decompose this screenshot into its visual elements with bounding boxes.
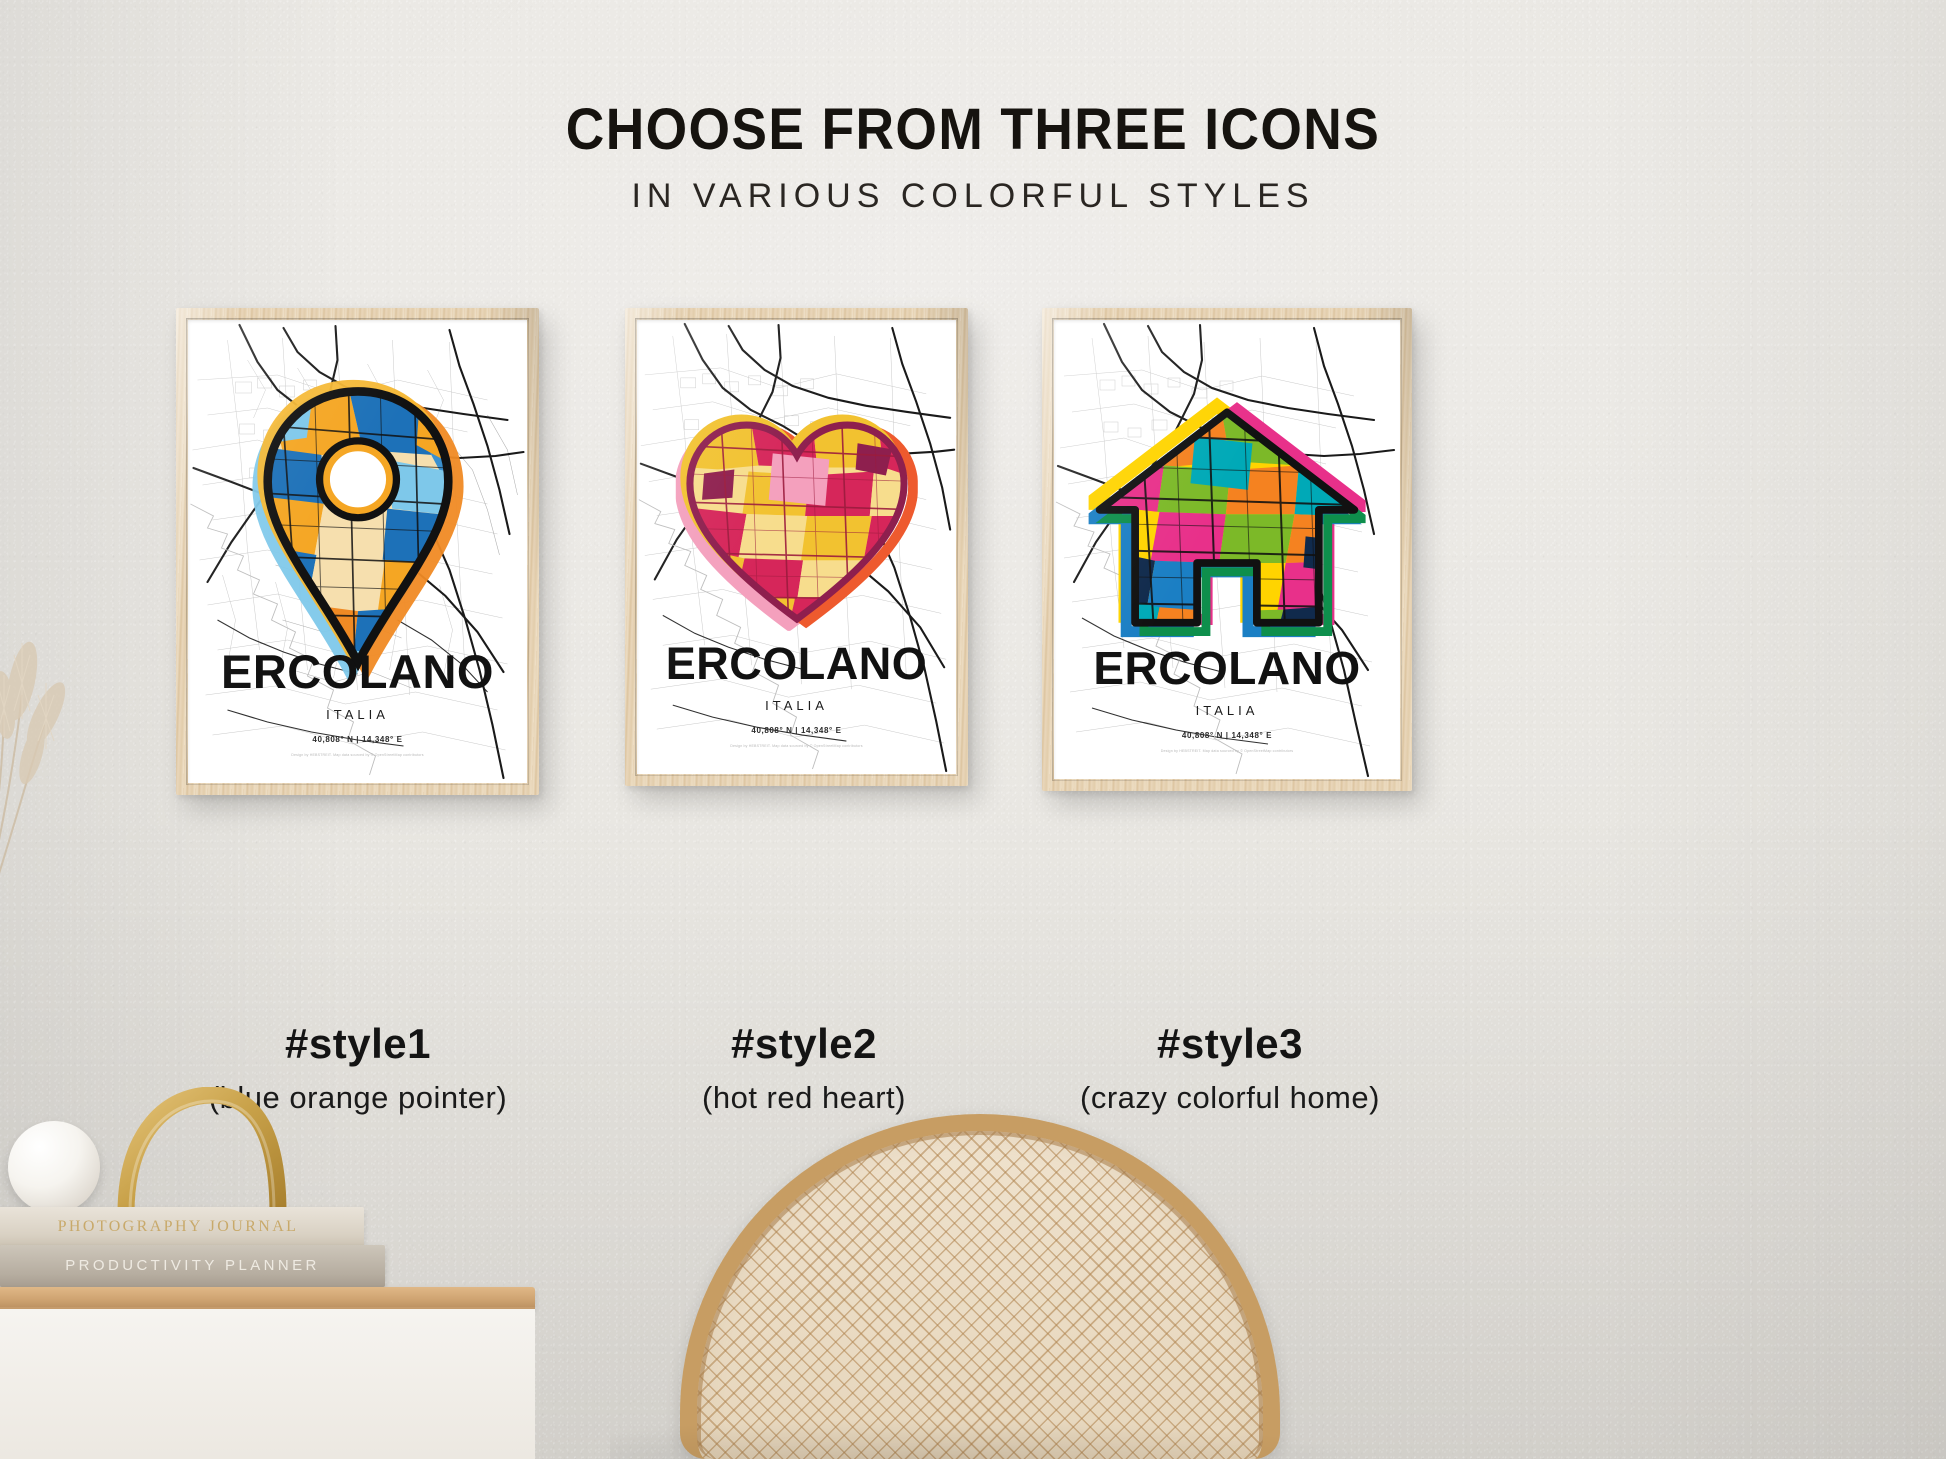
poster-country-name: ITALIA (188, 707, 527, 722)
poster-frame-style1[interactable]: ERCOLANO ITALIA 40,808° N | 14,348° E De… (176, 308, 539, 795)
poster-city-name: ERCOLANO (188, 648, 527, 695)
poster-attribution: Design by HEBSTREIT. Map data sourced by… (188, 753, 527, 757)
poster-caption-block: ERCOLANO ITALIA 40,808° N | 14,348° E De… (188, 648, 527, 757)
poster-canvas: ERCOLANO ITALIA 40,808° N | 14,348° E De… (188, 320, 527, 783)
poster-attribution: Design by HEBSTREIT. Map data sourced by… (637, 744, 956, 748)
book-photography-journal: PHOTOGRAPHY JOURNAL (0, 1207, 364, 1247)
style-caption-description: (crazy colorful home) (1020, 1080, 1440, 1116)
style-caption-2: #style2 (hot red heart) (594, 1020, 1014, 1116)
poster-attribution: Design by HEBSTREIT. Map data sourced by… (1054, 749, 1400, 753)
rattan-chair (680, 1114, 1280, 1459)
book-productivity-planner: PRODUCTIVITY PLANNER (0, 1245, 385, 1287)
style-caption-title: #style2 (594, 1020, 1014, 1068)
sideboard-top-surface (0, 1287, 535, 1309)
style-caption-title: #style1 (148, 1020, 568, 1068)
poster-city-name: ERCOLANO (1054, 645, 1400, 691)
wood-frame: ERCOLANO ITALIA 40,808° N | 14,348° E De… (176, 308, 539, 795)
style-caption-3: #style3 (crazy colorful home) (1020, 1020, 1440, 1116)
chair-backrest (680, 1114, 1280, 1459)
style-caption-title: #style3 (1020, 1020, 1440, 1068)
poster-canvas: ERCOLANO ITALIA 40,808° N | 14,348° E De… (1054, 320, 1400, 779)
wood-frame: ERCOLANO ITALIA 40,808° N | 14,348° E De… (1042, 308, 1412, 791)
poster-caption-block: ERCOLANO ITALIA 40,808° N | 14,348° E De… (637, 641, 956, 748)
poster-frame-style3[interactable]: ERCOLANO ITALIA 40,808° N | 14,348° E De… (1042, 308, 1412, 791)
poster-coordinates: 40,808° N | 14,348° E (637, 726, 956, 735)
book-lower-label: PRODUCTIVITY PLANNER (0, 1257, 385, 1274)
style-caption-description: (hot red heart) (594, 1080, 1014, 1116)
book-upper-label: PHOTOGRAPHY JOURNAL (0, 1218, 364, 1236)
poster-city-name: ERCOLANO (637, 641, 956, 686)
brass-arch-sculpture (108, 1087, 288, 1213)
poster-caption-block: ERCOLANO ITALIA 40,808° N | 14,348° E De… (1054, 645, 1400, 753)
wood-frame: ERCOLANO ITALIA 40,808° N | 14,348° E De… (625, 308, 968, 786)
poster-country-name: ITALIA (1054, 703, 1400, 718)
sideboard-furniture: PHOTOGRAPHY JOURNAL PRODUCTIVITY PLANNER (0, 1209, 535, 1459)
page-subtitle: IN VARIOUS COLORFUL STYLES (0, 177, 1946, 216)
page-title: CHOOSE FROM THREE ICONS (78, 96, 1868, 163)
poster-coordinates: 40,808° N | 14,348° E (1054, 731, 1400, 740)
pampas-grass-decor (0, 585, 112, 915)
sideboard-body (0, 1307, 535, 1459)
poster-country-name: ITALIA (637, 698, 956, 713)
ceramic-ball-decor (8, 1121, 100, 1213)
floor-shadow (610, 1419, 1370, 1459)
poster-coordinates: 40,808° N | 14,348° E (188, 735, 527, 744)
poster-canvas: ERCOLANO ITALIA 40,808° N | 14,348° E De… (637, 320, 956, 774)
poster-frame-style2[interactable]: ERCOLANO ITALIA 40,808° N | 14,348° E De… (625, 308, 968, 786)
headings-block: CHOOSE FROM THREE ICONS IN VARIOUS COLOR… (0, 96, 1946, 216)
